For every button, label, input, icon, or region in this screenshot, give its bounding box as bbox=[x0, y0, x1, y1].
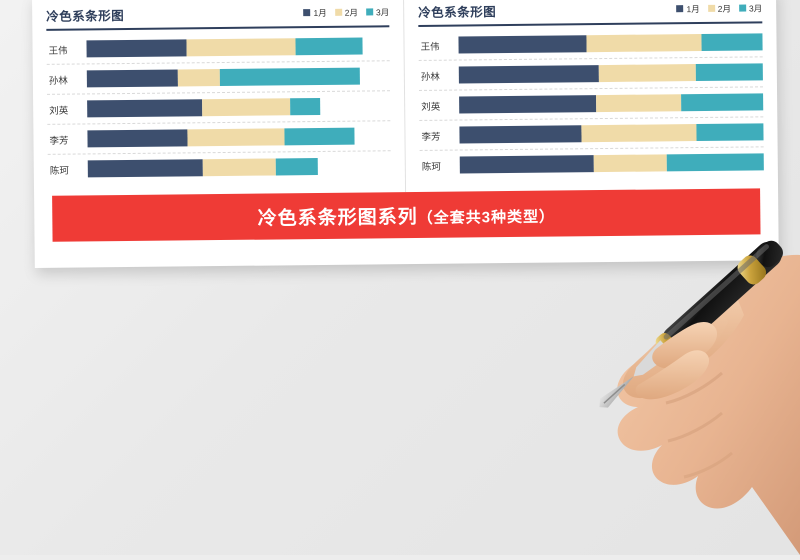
legend-item-mar-right: 3月 bbox=[739, 2, 762, 14]
legend-swatch-jan-right bbox=[676, 5, 683, 12]
legend-label-mar-right: 3月 bbox=[749, 2, 762, 14]
legend-swatch-jan-left bbox=[303, 9, 310, 16]
chart-bar-segment bbox=[460, 155, 594, 173]
chart-row-label: 李芳 bbox=[47, 132, 87, 146]
chart-row: 孙林 bbox=[419, 57, 763, 91]
legend-label-feb-left: 2月 bbox=[345, 6, 358, 18]
chart-bar-segment bbox=[186, 38, 295, 56]
panel-header-right: 冷色系条形图 1月 2月 3月 bbox=[418, 0, 762, 27]
chart-bar-segment bbox=[458, 35, 586, 53]
panel-header-left: 冷色系条形图 1月 2月 3月 bbox=[46, 2, 389, 31]
legend-left: 1月 2月 3月 bbox=[303, 6, 389, 19]
chart-bar-segment bbox=[87, 69, 178, 87]
legend-item-feb-left: 2月 bbox=[335, 6, 358, 18]
chart-bar-segment bbox=[220, 68, 360, 86]
legend-item-mar-left: 3月 bbox=[366, 6, 389, 18]
legend-label-jan-left: 1月 bbox=[313, 6, 326, 18]
chart-rows-left: 王伟孙林刘英李芳陈珂 bbox=[46, 31, 391, 184]
chart-row-label: 王伟 bbox=[46, 42, 86, 56]
legend-swatch-mar-right bbox=[739, 5, 746, 12]
chart-row-label: 刘英 bbox=[419, 98, 459, 112]
chart-panel-right: 冷色系条形图 1月 2月 3月 王伟孙林刘英李芳陈珂 bbox=[404, 0, 778, 192]
chart-row: 孙林 bbox=[47, 61, 390, 95]
legend-swatch-feb-left bbox=[335, 9, 342, 16]
chart-bar-segment bbox=[187, 128, 284, 146]
chart-row: 刘英 bbox=[419, 87, 763, 121]
promo-banner-sub: （全套共3种类型） bbox=[418, 208, 556, 226]
chart-row-label: 刘英 bbox=[47, 102, 87, 116]
legend-swatch-mar-left bbox=[366, 8, 373, 15]
chart-bar-segment bbox=[290, 98, 320, 115]
template-preview-sheet: 冷色系条形图 1月 2月 3月 王伟孙林刘英李芳陈珂 bbox=[32, 0, 779, 268]
legend-label-feb-right: 2月 bbox=[718, 2, 731, 14]
chart-bar-track bbox=[87, 97, 390, 117]
chart-bar-segment bbox=[284, 128, 354, 146]
chart-panels: 冷色系条形图 1月 2月 3月 王伟孙林刘英李芳陈珂 bbox=[32, 0, 778, 196]
chart-bar-segment bbox=[599, 64, 696, 82]
chart-bar-segment bbox=[296, 38, 363, 56]
chart-bar-segment bbox=[87, 129, 187, 147]
chart-bar-track bbox=[88, 157, 391, 177]
chart-bar-segment bbox=[593, 154, 666, 172]
chart-bar-segment bbox=[696, 123, 763, 141]
chart-bar-track bbox=[459, 93, 763, 113]
chart-bar-segment bbox=[87, 99, 202, 117]
chart-bar-track bbox=[459, 123, 763, 143]
chart-bar-segment bbox=[696, 63, 763, 81]
chart-bar-segment bbox=[702, 33, 763, 51]
panel-title-right: 冷色系条形图 bbox=[418, 1, 496, 21]
chart-bar-segment bbox=[581, 124, 697, 142]
chart-row: 王伟 bbox=[46, 31, 389, 65]
chart-bar-track bbox=[460, 153, 764, 173]
chart-bar-segment bbox=[203, 158, 276, 176]
chart-bar-segment bbox=[586, 34, 702, 52]
promo-banner-text: 冷色系条形图系列（全套共3种类型） bbox=[257, 200, 555, 230]
legend-label-mar-left: 3月 bbox=[376, 6, 389, 18]
chart-bar-segment bbox=[459, 65, 599, 83]
chart-row: 陈珂 bbox=[420, 147, 764, 180]
chart-row-label: 陈珂 bbox=[420, 158, 460, 172]
promo-banner: 冷色系条形图系列（全套共3种类型） bbox=[52, 188, 760, 241]
legend-item-feb-right: 2月 bbox=[708, 2, 731, 14]
chart-row-label: 王伟 bbox=[418, 38, 458, 52]
chart-bar-track bbox=[87, 127, 390, 147]
chart-row-label: 李芳 bbox=[419, 128, 459, 142]
chart-row: 王伟 bbox=[418, 27, 762, 61]
chart-row: 李芳 bbox=[47, 121, 390, 155]
chart-bar-segment bbox=[202, 98, 290, 116]
chart-rows-right: 王伟孙林刘英李芳陈珂 bbox=[418, 27, 764, 180]
chart-row-label: 孙林 bbox=[47, 72, 87, 86]
chart-row: 李芳 bbox=[419, 117, 763, 151]
chart-bar-track bbox=[86, 37, 389, 57]
chart-bar-segment bbox=[276, 158, 319, 175]
legend-swatch-feb-right bbox=[708, 5, 715, 12]
chart-bar-segment bbox=[459, 95, 596, 113]
chart-bar-segment bbox=[666, 153, 763, 171]
chart-bar-segment bbox=[681, 93, 763, 111]
legend-item-jan-right: 1月 bbox=[676, 3, 699, 15]
chart-bar-track bbox=[87, 67, 390, 87]
chart-bar-segment bbox=[459, 125, 581, 143]
chart-bar-segment bbox=[178, 69, 221, 86]
chart-bar-segment bbox=[86, 39, 186, 57]
chart-bar-track bbox=[459, 63, 763, 83]
legend-item-jan-left: 1月 bbox=[303, 6, 326, 18]
chart-bar-track bbox=[458, 33, 762, 53]
legend-label-jan-right: 1月 bbox=[686, 3, 699, 15]
panel-title-left: 冷色系条形图 bbox=[46, 5, 124, 25]
chart-row: 刘英 bbox=[47, 91, 390, 125]
chart-row-label: 孙林 bbox=[419, 68, 459, 82]
chart-bar-segment bbox=[88, 159, 203, 177]
chart-row-label: 陈珂 bbox=[48, 162, 88, 176]
chart-row: 陈珂 bbox=[48, 151, 391, 184]
chart-panel-left: 冷色系条形图 1月 2月 3月 王伟孙林刘英李芳陈珂 bbox=[32, 0, 406, 196]
legend-right: 1月 2月 3月 bbox=[676, 2, 762, 15]
chart-bar-segment bbox=[596, 94, 681, 112]
promo-banner-main: 冷色系条形图系列 bbox=[258, 206, 418, 229]
